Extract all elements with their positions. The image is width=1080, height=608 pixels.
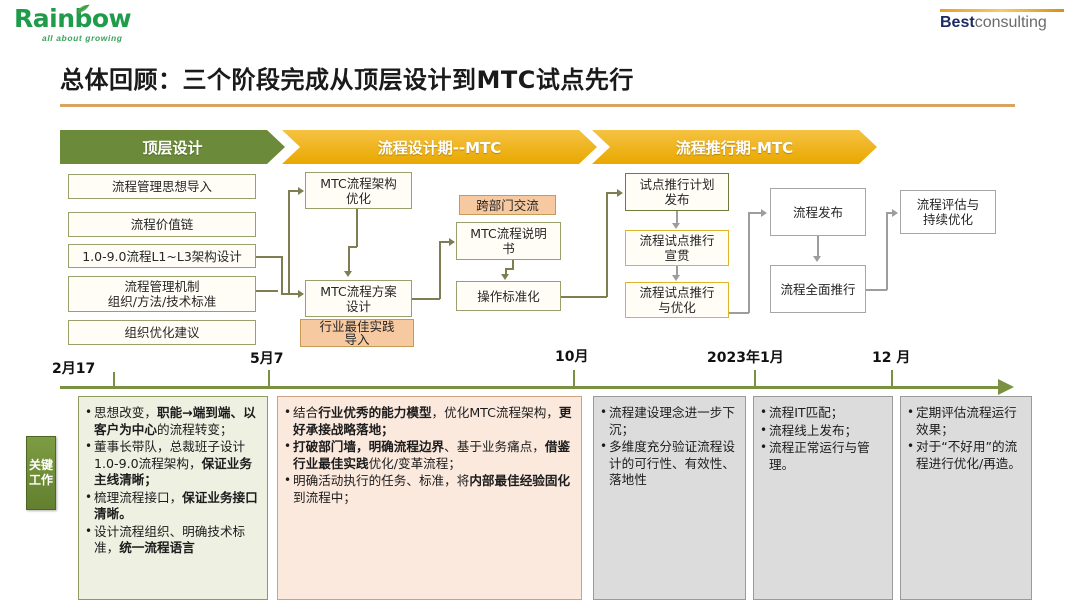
best-consulting-logo: Bestconsulting (940, 9, 1064, 32)
connector-line (817, 236, 819, 257)
flow-box-label: 流程试点推行 宣贯 (639, 233, 714, 263)
phase-banner-2: 流程设计期--MTC (282, 130, 597, 164)
connector-line (256, 290, 278, 292)
connector-arrow (761, 209, 767, 217)
list-item: 结合行业优秀的能力模型，优化MTC流程架构，更好承接战略落地； (284, 405, 575, 438)
timeline-tick (891, 370, 893, 387)
flow-box-process-release: 流程发布 (770, 188, 866, 236)
logo-gold-bar (940, 9, 1064, 12)
connector-arrow (298, 290, 304, 298)
flow-box-label: 试点推行计划 发布 (639, 177, 714, 207)
flow-box-full-rollout: 流程全面推行 (770, 265, 866, 313)
timeline-axis (60, 386, 1000, 389)
timeline-tick (268, 370, 270, 387)
flow-box-label: 操作标准化 (477, 289, 540, 304)
phase-banner-1: 顶层设计 (60, 130, 285, 164)
connector-line (439, 241, 441, 299)
list-item: 设计流程组织、明确技术标准，统一流程语言 (85, 524, 261, 557)
flow-box-label: 流程评估与 持续优化 (917, 197, 980, 227)
connector-arrow (892, 209, 898, 217)
flow-box-mtc-process-manual: MTC流程说明 书 (456, 222, 561, 260)
flow-box-label: 流程管理机制 组织/方法/技术标准 (108, 279, 216, 309)
panel-4-list: 流程IT匹配；流程线上发布；流程正常运行与管理。 (760, 405, 886, 473)
key-work-badge: 关键 工作 (26, 436, 56, 510)
timeline-label-3: 10月 (555, 346, 588, 366)
flow-box-label: 流程管理思想导入 (112, 179, 212, 194)
timeline-label-5: 12 月 (872, 347, 910, 367)
panel-2-list: 结合行业优秀的能力模型，优化MTC流程架构，更好承接战略落地；打破部门墙，明确流… (284, 405, 575, 506)
flow-box-process-mgmt-ideology: 流程管理思想导入 (68, 174, 256, 199)
timeline-label-4: 2023年1月 (707, 347, 784, 367)
connector-line (281, 293, 299, 295)
timeline-tick (573, 370, 575, 387)
connector-arrow (617, 189, 623, 197)
best-consulting-wordmark: Bestconsulting (940, 14, 1064, 32)
connector-line (288, 190, 290, 294)
flow-box-pilot-rollout-optimization: 流程试点推行 与优化 (625, 282, 729, 318)
flow-box-process-mgmt-mechanism: 流程管理机制 组织/方法/技术标准 (68, 276, 256, 312)
best-consulting-rest: consulting (975, 14, 1047, 31)
flow-box-industry-best-practice-import: 行业最佳实践 导入 (300, 319, 414, 347)
list-item: 流程建设理念进一步下沉； (600, 405, 739, 438)
connector-line (412, 298, 440, 300)
connector-line (348, 246, 350, 272)
list-item: 董事长带队，总裁班子设计1.0-9.0流程架构，保证业务主线清晰； (85, 439, 261, 489)
title-underline (60, 104, 1015, 107)
connector-line (866, 289, 887, 291)
connector-line (729, 312, 749, 314)
best-consulting-bold: Best (940, 14, 975, 31)
timeline-tick (113, 372, 115, 387)
connector-arrow (449, 238, 455, 246)
timeline-tick (754, 370, 756, 387)
flow-box-org-optimization-advice: 组织优化建议 (68, 320, 256, 345)
flow-box-process-evaluation-continuous-optimization: 流程评估与 持续优化 (900, 190, 996, 234)
connector-line (606, 192, 608, 297)
phase-banner-3: 流程推行期-MTC (592, 130, 877, 164)
connector-arrow (344, 271, 352, 277)
list-item: 打破部门墙，明确流程边界、基于业务痛点，借鉴行业最佳实践优化/变革流程； (284, 439, 575, 472)
panel-3-list: 流程建设理念进一步下沉；多维度充分验证流程设计的可行性、有效性、落地性 (600, 405, 739, 489)
key-work-panel-1: 思想改变，职能→端到端、以客户为中心的流程转变；董事长带队，总裁班子设计1.0-… (78, 396, 268, 600)
flow-box-label: 跨部门交流 (476, 198, 539, 213)
key-work-badge-label: 关键 工作 (29, 458, 53, 488)
flow-box-mtc-scheme-design: MTC流程方案 设计 (305, 280, 412, 317)
key-work-panel-3: 流程建设理念进一步下沉；多维度充分验证流程设计的可行性、有效性、落地性 (593, 396, 746, 600)
flow-box-label: MTC流程说明 书 (470, 226, 546, 256)
flow-box-label: 流程全面推行 (780, 282, 855, 297)
timeline-label-1: 2月17 (52, 358, 95, 378)
list-item: 对于“不好用”的流程进行优化/再造。 (907, 439, 1025, 472)
list-item: 明确活动执行的任务、标准，将内部最佳经验固化到流程中； (284, 473, 575, 506)
panel-5-list: 定期评估流程运行效果；对于“不好用”的流程进行优化/再造。 (907, 405, 1025, 472)
connector-line (356, 209, 358, 247)
timeline-arrowhead (998, 379, 1014, 395)
leaf-icon (76, 4, 90, 14)
flow-box-label: 流程发布 (793, 205, 843, 220)
connector-line (886, 212, 888, 290)
connector-arrow (813, 256, 821, 262)
flow-box-process-value-chain: 流程价值链 (68, 212, 256, 237)
connector-line (748, 212, 761, 214)
flow-box-label: 流程价值链 (131, 217, 194, 232)
flow-box-label: 流程试点推行 与优化 (639, 285, 714, 315)
phase-banner-1-label: 顶层设计 (142, 137, 202, 158)
connector-line (748, 212, 750, 313)
rainbow-wordmark: Rainbow (14, 6, 131, 32)
flow-box-mtc-architecture-optimization: MTC流程架构 优化 (305, 172, 412, 209)
rainbow-tagline: all about growing (42, 33, 131, 43)
connector-arrow (672, 275, 680, 281)
flow-box-pilot-rollout-plan-release: 试点推行计划 发布 (625, 173, 729, 211)
key-work-panel-5: 定期评估流程运行效果；对于“不好用”的流程进行优化/再造。 (900, 396, 1032, 600)
phase-banner-2-label: 流程设计期--MTC (378, 137, 502, 158)
key-work-panel-4: 流程IT匹配；流程线上发布；流程正常运行与管理。 (753, 396, 893, 600)
rainbow-logo: Rainbow all about growing (14, 6, 131, 43)
key-work-panel-2: 结合行业优秀的能力模型，优化MTC流程架构，更好承接战略落地；打破部门墙，明确流… (277, 396, 582, 600)
connector-arrow (501, 274, 509, 280)
flow-box-l1-l3-architecture: 1.0-9.0流程L1~L3架构设计 (68, 244, 256, 268)
connector-line (256, 256, 282, 258)
flow-box-pilot-rollout-promotion: 流程试点推行 宣贯 (625, 230, 729, 266)
list-item: 梳理流程接口，保证业务接口清晰。 (85, 490, 261, 523)
flow-box-operation-standardization: 操作标准化 (456, 281, 561, 311)
flow-box-label: 1.0-9.0流程L1~L3架构设计 (82, 249, 242, 264)
connector-line (281, 256, 283, 294)
flow-box-label: 行业最佳实践 导入 (319, 320, 394, 346)
flow-box-cross-department-exchange: 跨部门交流 (459, 195, 556, 215)
flow-box-label: 组织优化建议 (124, 325, 199, 340)
timeline-label-2: 5月7 (250, 348, 283, 368)
flow-box-label: MTC流程架构 优化 (320, 176, 396, 206)
list-item: 定期评估流程运行效果； (907, 405, 1025, 438)
list-item: 流程线上发布； (760, 423, 886, 440)
panel-1-list: 思想改变，职能→端到端、以客户为中心的流程转变；董事长带队，总裁班子设计1.0-… (85, 405, 261, 557)
list-item: 流程IT匹配； (760, 405, 886, 422)
connector-line (561, 296, 607, 298)
connector-arrow (672, 223, 680, 229)
list-item: 多维度充分验证流程设计的可行性、有效性、落地性 (600, 439, 739, 489)
list-item: 流程正常运行与管理。 (760, 440, 886, 473)
list-item: 思想改变，职能→端到端、以客户为中心的流程转变； (85, 405, 261, 438)
phase-banner-3-label: 流程推行期-MTC (676, 137, 793, 158)
flow-box-label: MTC流程方案 设计 (320, 284, 396, 314)
connector-arrow (298, 187, 304, 195)
page-title: 总体回顾：三个阶段完成从顶层设计到MTC试点先行 (60, 60, 634, 95)
